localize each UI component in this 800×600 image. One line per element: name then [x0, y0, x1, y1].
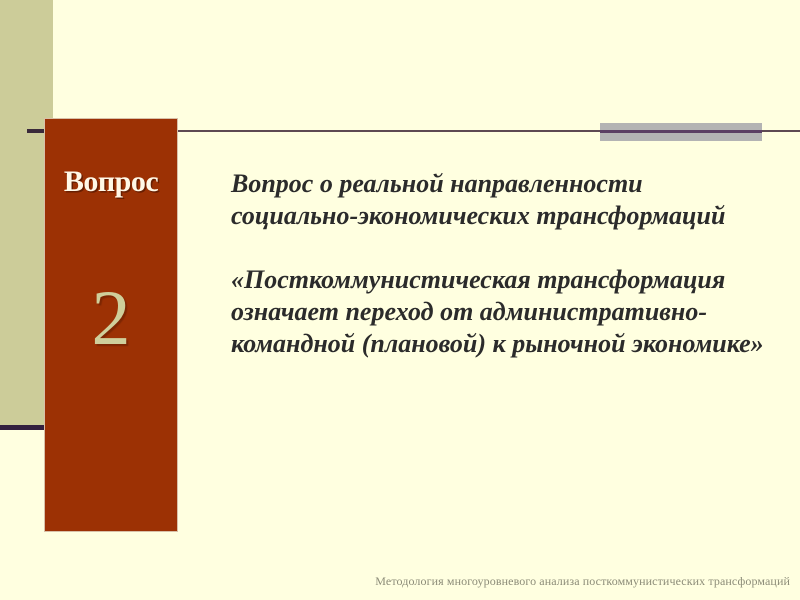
content-heading: Вопрос о реальной направленности социаль… [231, 168, 776, 232]
question-panel: Вопрос 2 [44, 118, 178, 532]
sage-band-underline [0, 425, 44, 430]
grey-block-rule-overlay [600, 130, 762, 133]
content-quote: «Посткоммунистическая трансформация озна… [231, 264, 776, 360]
question-panel-number: 2 [45, 279, 177, 357]
left-rule-tick [27, 129, 45, 133]
content-spacer [231, 232, 776, 264]
question-panel-label: Вопрос [45, 165, 177, 199]
slide-footer: Методология многоуровневого анализа пост… [0, 574, 790, 589]
slide-canvas: Вопрос 2 Вопрос о реальной направленност… [0, 0, 800, 600]
slide-content: Вопрос о реальной направленности социаль… [231, 168, 776, 360]
